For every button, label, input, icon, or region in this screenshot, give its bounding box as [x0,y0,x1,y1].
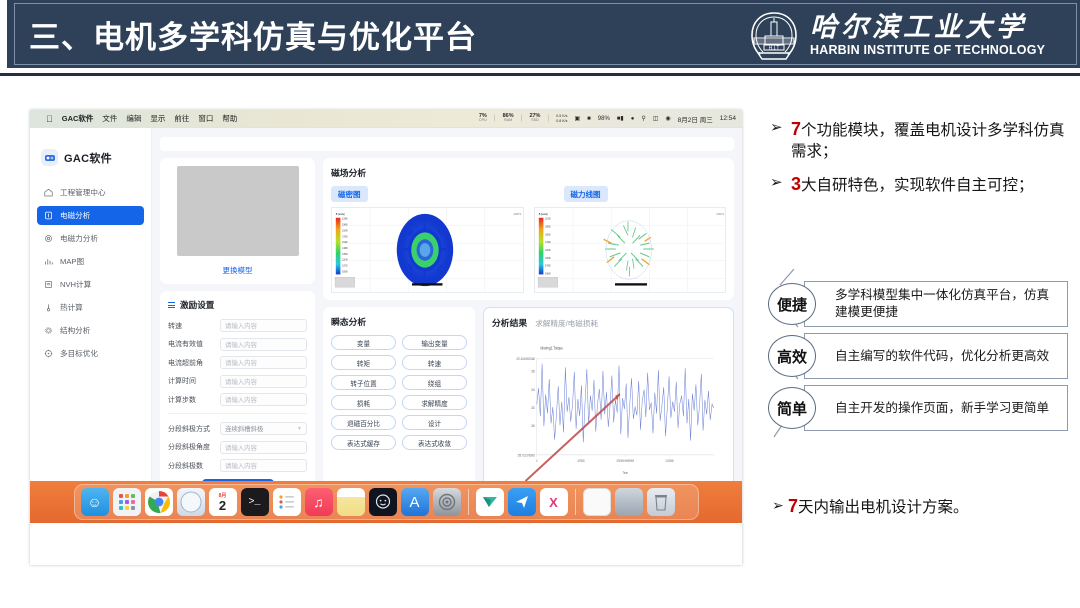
sidebar-item-label: 结构分析 [60,325,90,336]
thermo-icon [44,303,53,312]
notes-icon[interactable] [337,488,365,516]
svg-text:B [tesla]: B [tesla] [538,211,547,215]
svg-text:1.6400: 1.6400 [342,242,348,244]
menu-item-view[interactable]: 显示 [150,113,165,124]
svg-text:0.7800: 0.7800 [544,265,550,267]
field-label: 计算时间 [168,376,220,386]
btn-expression-convergence[interactable]: 表达式收敛 [402,435,467,450]
field-row-calc-steps: 计算步数 请输入内容 [168,393,307,406]
app-brand-name: GAC软件 [64,150,112,166]
menu-item-file[interactable]: 文件 [102,113,117,124]
svg-text:Time: Time [623,470,628,475]
wechat-icon[interactable] [476,488,504,516]
feature-desc-box-1: 多学科模型集中一体化仿真平台，仿真建模更便捷 [804,281,1068,327]
calc-time-input[interactable]: 请输入内容 [220,375,307,388]
control-center-icon[interactable]: ◫ [653,115,659,122]
document-icon[interactable] [583,488,611,516]
btn-variable[interactable]: 变量 [331,335,396,350]
xmind-icon[interactable]: X [540,488,568,516]
app-brand: GAC软件 [30,128,151,166]
flux-density-plot[interactable]: B [tesla] 2.20802.0660 1.92401.7820 1.64… [331,207,524,293]
svg-text:ANSYS: ANSYS [513,211,521,215]
model-preview-card: 更换模型 [160,158,315,284]
feature-badge-2: 高效 [768,335,816,377]
bullet-body-2: 大自研特色，实现软件自主可控； [801,177,1034,194]
main-toolbar [160,137,734,151]
menu-item-edit[interactable]: 编辑 [126,113,141,124]
change-model-link[interactable]: 更换模型 [223,265,253,276]
flux-lines-plot[interactable]: B [tesla] 2.10001.8800 1.66001.4400 1.22… [534,207,727,293]
svg-text:0.5600: 0.5600 [544,273,550,275]
btn-design[interactable]: 设计 [402,415,467,430]
status-network-rates[interactable]: 0.5 K/s 0.8 K/s [556,114,567,122]
bottom-note-body: 天内输出电机设计方案。 [798,499,969,516]
bottom-note-number: 7 [788,496,798,516]
bullet-item-1: ➢ 7个功能模块，覆盖电机设计多学科仿真需求； [770,118,1070,162]
svg-text:B [tesla]: B [tesla] [336,211,345,215]
current-rms-input[interactable]: 请输入内容 [220,338,307,351]
field-row-skew-angle: 分段斜极角度 请输入内容 [168,441,307,454]
svg-text:1312500: 1312500 [665,459,674,464]
svg-text:1.3560: 1.3560 [342,254,348,256]
form-title-row: 激励设置 [168,299,307,311]
model-thumbnail [177,166,299,256]
feature-desc-box-2: 自主编写的软件代码，优化分析更高效 [804,333,1068,379]
header-rule-dark [0,73,1080,76]
field-analysis-card: 磁场分析 磁密图 磁力线图 [323,158,734,300]
form-title: 激励设置 [180,299,214,311]
svg-text:2.2080: 2.2080 [342,219,348,221]
bullet-list: ➢ 7个功能模块，覆盖电机设计多学科仿真需求； ➢ 3大自研特色，实现软件自主可… [770,118,1070,208]
torque-chart[interactable]: Moving1.Torque256.7131370989226026226426… [492,332,725,490]
skew-count-input[interactable]: 请输入内容 [220,459,307,472]
svg-text:0.9300: 0.9300 [342,271,348,273]
field-row-speed: 转速 请输入内容 [168,319,307,332]
field-label: 电流超前角 [168,358,220,368]
transient-button-grid: 变量 输出变量 转矩 转速 转子位置 绕组 损耗 求解精度 退磁百分比 设计 表 [331,335,467,450]
battery-percent-label: 98% [598,116,610,122]
field-plots: B [tesla] 2.20802.0660 1.92401.7820 1.64… [331,207,726,293]
skew-mode-value: 连续斜槽斜极 [225,424,263,433]
status-ssd[interactable]: 27% SSD [529,114,540,123]
sidebar-item-label: 多目标优化 [60,348,98,359]
chevron-down-icon: ▼ [297,426,302,432]
bullet-number-2: 3 [791,174,801,194]
messages-icon[interactable] [369,488,397,516]
app-window: GAC软件 工程管理中心 电磁分析 电磁力分析 MAP图 [30,127,742,523]
chart-icon [44,257,53,266]
menu-item-window[interactable]: 窗口 [198,113,213,124]
btn-output-variable[interactable]: 输出变量 [402,335,467,350]
battery-icon[interactable]: ■▮ [617,115,624,122]
svg-text:1.4980: 1.4980 [342,248,348,250]
status-cpu[interactable]: 7% CPU [479,114,487,123]
screen-icon[interactable]: ■ [587,116,591,122]
field-label: 计算步数 [168,395,220,405]
svg-text:1.6600: 1.6600 [544,234,550,236]
sidebar-item-map[interactable]: MAP图 [37,252,144,271]
svg-text:1.0000: 1.0000 [544,258,550,260]
svg-text:437500: 437500 [577,459,584,464]
sidebar-item-nvh[interactable]: NVH计算 [37,275,144,294]
target-icon [44,349,53,358]
svg-text:262: 262 [531,405,535,410]
sidebar-item-label: 电磁分析 [60,210,90,221]
sidebar-item-em-analysis[interactable]: 电磁分析 [37,206,144,225]
sidebar-item-structure[interactable]: 结构分析 [37,321,144,340]
university-logo: H.I.T 哈尔滨工业大学 HARBIN INSTITUTE OF TECHNO… [746,8,1066,64]
svg-text:1.2200: 1.2200 [544,250,550,252]
svg-text:ANSYS: ANSYS [716,211,724,215]
magnet-icon [44,211,53,220]
force-icon [44,234,53,243]
btn-demagnetization-percent[interactable]: 退磁百分比 [331,415,396,430]
tab-flux-density[interactable]: 磁密图 [331,186,368,202]
application-screenshot:  GAC软件 文件 编辑 显示 前往 窗口 帮助 7% CPU | 86% R… [30,110,742,565]
screenshot-icon[interactable] [615,488,643,516]
svg-text:266: 266 [531,369,535,374]
sidebar-item-thermal[interactable]: 热计算 [37,298,144,317]
btn-loss[interactable]: 损耗 [331,395,396,410]
mac-dock: ☺ [30,481,742,523]
music-icon[interactable]: ♫ [305,488,333,516]
result-title: 分析结果 [492,316,527,329]
tab-flux-lines[interactable]: 磁力线图 [564,186,608,202]
field-label: 电流有效值 [168,339,220,349]
btn-rotor-position[interactable]: 转子位置 [331,375,396,390]
menu-app-name[interactable]: GAC软件 [62,113,94,124]
bullet-body-1: 个功能模块，覆盖电机设计多学科仿真需求； [791,122,1065,160]
field-analysis-tabs: 磁密图 磁力线图 [331,186,726,202]
speed-input[interactable]: 请输入内容 [220,319,307,332]
field-row-skew-count: 分段斜极数 请输入内容 [168,459,307,472]
field-label: 分段斜极方式 [168,424,220,434]
svg-text:256.71313709892: 256.71313709892 [518,453,536,458]
svg-text:2.1000: 2.1000 [544,219,550,221]
menu-item-go[interactable]: 前往 [174,113,189,124]
sidebar-item-label: MAP图 [60,256,84,267]
appstore-icon[interactable]: A [401,488,429,516]
menu-time[interactable]: 12:54 [720,115,736,122]
sidebar-item-label: 热计算 [60,302,83,313]
logo-chinese-name: 哈尔滨工业大学 [810,14,1045,42]
field-row-current-rms: 电流有效值 请输入内容 [168,338,307,351]
menu-date[interactable]: 8月2日 周三 [678,114,713,124]
sidebar-item-em-force[interactable]: 电磁力分析 [37,229,144,248]
gear-icon [44,326,53,335]
svg-text:H.I.T: H.I.T [769,46,780,52]
svg-text:1.0720: 1.0720 [342,265,348,267]
reminders-icon[interactable] [273,488,301,516]
safari-icon[interactable] [177,488,205,516]
feature-badge-3: 简单 [768,387,816,429]
result-subtitle: 求解精度/电磁损耗 [535,318,598,329]
feature-list: 多学科模型集中一体化仿真平台，仿真建模更便捷 便捷 自主编写的软件代码，优化分析… [768,281,1068,437]
btn-winding[interactable]: 绕组 [402,375,467,390]
chrome-icon[interactable] [145,488,173,516]
field-row-calc-time: 计算时间 请输入内容 [168,375,307,388]
settings-icon[interactable] [433,488,461,516]
calc-steps-input[interactable]: 请输入内容 [220,393,307,406]
slide-header: 三、电机多学科仿真与优化平台 H.I.T 哈尔滨工业大学 HARBIN INST… [0,0,1080,68]
feature-badge-1: 便捷 [768,283,816,325]
svg-text:1.2140: 1.2140 [342,260,348,262]
search-icon[interactable]: ⚲ [641,115,645,122]
home-icon [44,188,53,197]
finder-icon[interactable]: ☺ [81,488,109,516]
terminal-icon[interactable]: >_ [241,488,269,516]
logo-english-name: HARBIN INSTITUTE OF TECHNOLOGY [810,44,1045,58]
btn-solution-accuracy[interactable]: 求解精度 [402,395,467,410]
sidebar-item-label: 工程管理中心 [60,187,106,198]
feature-item-convenient: 多学科模型集中一体化仿真平台，仿真建模更便捷 便捷 [768,281,1068,327]
svg-text:Moving1.Torque: Moving1.Torque [540,345,563,351]
bullet-number-1: 7 [791,119,801,139]
btn-torque[interactable]: 转矩 [331,355,396,370]
btn-expression-cache[interactable]: 表达式缓存 [331,435,396,450]
sidebar-item-label: 电磁力分析 [60,233,98,244]
bullet-text-1: 7个功能模块，覆盖电机设计多学科仿真需求； [791,118,1070,162]
sidebar-item-label: NVH计算 [60,279,91,290]
arrow-bullet-icon-2: ➢ [770,173,784,197]
svg-text:1.7820: 1.7820 [342,236,348,238]
skew-mode-select[interactable]: 连续斜槽斜极 ▼ [220,422,307,435]
page-title: 三、电机多学科仿真与优化平台 [29,12,477,57]
bullet-text-2: 3大自研特色，实现软件自主可控； [791,173,1034,197]
svg-text:1.9240: 1.9240 [342,230,348,232]
field-label: 分段斜极数 [168,461,220,471]
field-label: 转速 [168,321,220,331]
dock-divider [468,489,469,515]
bottom-note-text: 7天内输出电机设计方案。 [788,495,969,517]
mac-menu-bar:  GAC软件 文件 编辑 显示 前往 窗口 帮助 7% CPU | 86% R… [30,110,742,127]
field-row-lead-angle: 电流超前角 请输入内容 [168,356,307,369]
menu-item-help[interactable]: 帮助 [222,113,237,124]
svg-text:2.0660: 2.0660 [342,224,348,226]
arrow-bullet-icon-3: ➢ [772,495,784,512]
svg-text:260: 260 [531,423,535,428]
feature-desc-2: 自主编写的软件代码，优化分析更高效 [835,348,1049,365]
svg-text:267.401409023468: 267.401409023468 [516,357,535,362]
field-label: 分段斜极角度 [168,442,220,452]
sidebar-item-optimization[interactable]: 多目标优化 [37,344,144,363]
form-divider [168,413,307,414]
app-main-content: 更换模型 激励设置 转速 请输入内容 电流有效值 请输 [152,128,742,523]
wifi-icon[interactable]: ● [631,116,635,122]
dock-divider-2 [575,489,576,515]
feature-item-simple: 自主开发的操作页面，新手学习更简单 简单 [768,385,1068,431]
calendar-icon[interactable]: 8月 2 [209,488,237,516]
wave-icon [44,280,53,289]
result-header: 分析结果 求解精度/电磁损耗 [492,316,725,329]
status-divider-2: | [521,115,523,122]
app-sidebar: GAC软件 工程管理中心 电磁分析 电磁力分析 MAP图 [30,128,152,524]
lead-angle-input[interactable]: 请输入内容 [220,356,307,369]
display-icon[interactable]: ▣ [574,115,580,122]
trash-icon[interactable] [647,488,675,516]
field-row-skew-mode: 分段斜极方式 连续斜槽斜极 ▼ [168,422,307,435]
sidebar-nav: 工程管理中心 电磁分析 电磁力分析 MAP图 NVH计算 [30,183,151,363]
list-icon [168,302,175,308]
svg-text:874999.99999999: 874999.99999999 [617,459,635,464]
launchpad-icon[interactable] [113,488,141,516]
skew-angle-input[interactable]: 请输入内容 [220,441,307,454]
bottom-note: ➢ 7天内输出电机设计方案。 [772,495,1072,517]
sidebar-item-project-center[interactable]: 工程管理中心 [37,183,144,202]
transient-title: 瞬态分析 [331,315,467,328]
status-divider-3: | [547,115,549,122]
status-divider: | [494,115,496,122]
svg-text:1.8800: 1.8800 [544,226,550,228]
feature-desc-3: 自主开发的操作页面，新手学习更简单 [835,400,1049,417]
feature-desc-1: 多学科模型集中一体化仿真平台，仿真建模更便捷 [835,287,1061,321]
field-analysis-title: 磁场分析 [331,166,726,179]
feature-desc-box-3: 自主开发的操作页面，新手学习更简单 [804,385,1068,431]
btn-speed[interactable]: 转速 [402,355,467,370]
status-ram[interactable]: 86% RAM [503,114,514,123]
feature-item-efficient: 自主编写的软件代码，优化分析更高效 高效 [768,333,1068,379]
hit-seal-icon: H.I.T [746,10,802,62]
svg-text:264: 264 [531,387,535,392]
siri-icon[interactable]: ◉ [665,115,670,122]
bullet-item-2: ➢ 3大自研特色，实现软件自主可控； [770,173,1070,197]
arrow-bullet-icon: ➢ [770,118,784,162]
apple-logo-icon[interactable]:  [46,114,53,124]
app-logo-icon [41,149,58,166]
svg-text:1.4400: 1.4400 [544,242,550,244]
dingtalk-icon[interactable] [508,488,536,516]
